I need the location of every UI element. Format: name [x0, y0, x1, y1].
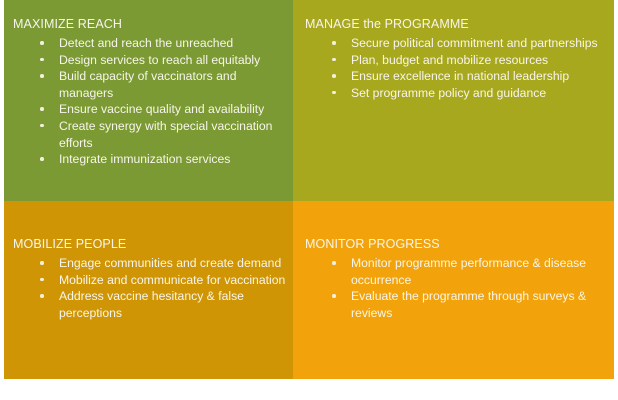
list-item: Design services to reach all equitably	[37, 52, 287, 69]
list-item-label: Ensure vaccine quality and availability	[59, 101, 287, 118]
bullet-dot-icon	[40, 157, 44, 161]
bullet-dot-icon	[332, 74, 336, 78]
list-item-label: Create synergy with special vaccination …	[59, 118, 287, 151]
list-item-label: Monitor programme performance & disease …	[351, 255, 611, 288]
list-item-label: Detect and reach the unreached	[59, 35, 287, 52]
quadrant-title-manage-programme: MANAGE the PROGRAMME	[305, 18, 469, 31]
list-item: Engage communities and create demand	[37, 255, 287, 272]
quadrant-title-monitor-progress: MONITOR PROGRESS	[305, 238, 440, 251]
bullet-list-mobilize-people: Engage communities and create demand Mob…	[37, 255, 287, 321]
list-item: Address vaccine hesitancy & false percep…	[37, 288, 287, 321]
list-item: Plan, budget and mobilize resources	[329, 52, 609, 69]
bullet-dot-icon	[332, 261, 336, 265]
quadrant-diagram: MAXIMIZE REACH Detect and reach the unre…	[4, 0, 614, 379]
list-item: Build capacity of vaccinators and manage…	[37, 68, 287, 101]
bullet-dot-icon	[40, 74, 44, 78]
bullet-dot-icon	[40, 41, 44, 45]
quadrant-mobilize-people: MOBILIZE PEOPLE Engage communities and c…	[4, 201, 293, 379]
bullet-list-maximize-reach: Detect and reach the unreached Design se…	[37, 35, 287, 168]
bullet-dot-icon	[40, 124, 44, 128]
list-item-label: Address vaccine hesitancy & false percep…	[59, 288, 287, 321]
bullet-dot-icon	[40, 261, 44, 265]
list-item-label: Engage communities and create demand	[59, 255, 287, 272]
list-item: Evaluate the programme through surveys &…	[329, 288, 611, 321]
list-item: Integrate immunization services	[37, 151, 287, 168]
list-item: Ensure vaccine quality and availability	[37, 101, 287, 118]
quadrant-monitor-progress: MONITOR PROGRESS Monitor programme perfo…	[293, 201, 614, 379]
list-item-label: Set programme policy and guidance	[351, 85, 609, 102]
bullet-dot-icon	[332, 91, 336, 95]
bullet-list-manage-programme: Secure political commitment and partners…	[329, 35, 609, 101]
quadrant-maximize-reach: MAXIMIZE REACH Detect and reach the unre…	[4, 0, 293, 201]
list-item: Secure political commitment and partners…	[329, 35, 609, 52]
list-item-label: Build capacity of vaccinators and manage…	[59, 68, 287, 101]
list-item-label: Ensure excellence in national leadership	[351, 68, 609, 85]
bullet-dot-icon	[40, 294, 44, 298]
quadrant-manage-programme: MANAGE the PROGRAMME Secure political co…	[293, 0, 614, 201]
bullet-dot-icon	[40, 278, 44, 282]
bullet-list-monitor-progress: Monitor programme performance & disease …	[329, 255, 611, 321]
list-item: Ensure excellence in national leadership	[329, 68, 609, 85]
bullet-dot-icon	[332, 41, 336, 45]
quadrant-title-mobilize-people: MOBILIZE PEOPLE	[13, 238, 126, 251]
bullet-dot-icon	[332, 58, 336, 62]
list-item-label: Mobilize and communicate for vaccination	[59, 272, 287, 289]
list-item: Create synergy with special vaccination …	[37, 118, 287, 151]
list-item-label: Secure political commitment and partners…	[351, 35, 609, 52]
list-item: Mobilize and communicate for vaccination	[37, 272, 287, 289]
list-item-label: Integrate immunization services	[59, 151, 287, 168]
list-item-label: Plan, budget and mobilize resources	[351, 52, 609, 69]
list-item: Detect and reach the unreached	[37, 35, 287, 52]
bullet-dot-icon	[40, 107, 44, 111]
list-item: Monitor programme performance & disease …	[329, 255, 611, 288]
bullet-dot-icon	[332, 294, 336, 298]
list-item-label: Evaluate the programme through surveys &…	[351, 288, 611, 321]
bullet-dot-icon	[40, 58, 44, 62]
quadrant-title-maximize-reach: MAXIMIZE REACH	[13, 18, 122, 31]
list-item-label: Design services to reach all equitably	[59, 52, 287, 69]
list-item: Set programme policy and guidance	[329, 85, 609, 102]
